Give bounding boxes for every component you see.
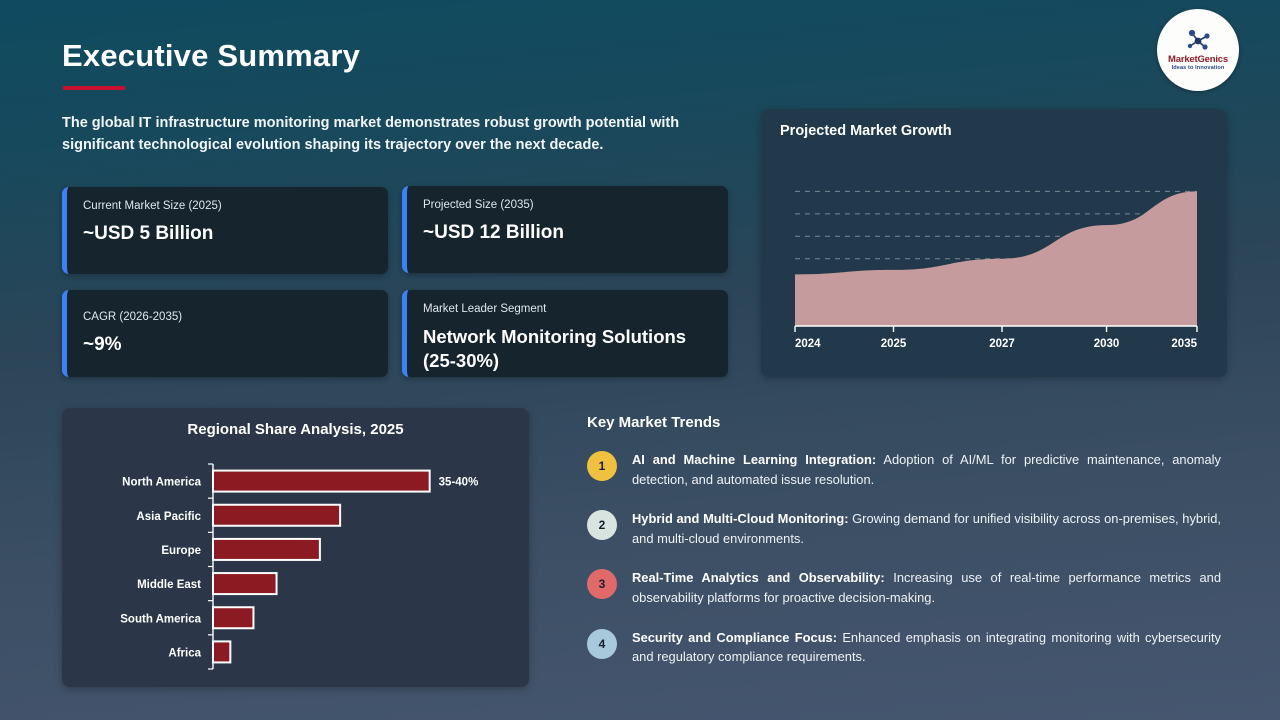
trend-item: 2Hybrid and Multi-Cloud Monitoring: Grow… [587, 509, 1221, 548]
x-axis-tick-label: 2030 [1094, 338, 1120, 350]
stat-card-market-leader-segment: Market Leader Segment Network Monitoring… [402, 290, 728, 377]
trend-heading: Security and Compliance Focus: [632, 630, 837, 645]
trend-number-badge: 4 [587, 629, 617, 659]
trend-heading: AI and Machine Learning Integration: [632, 452, 876, 467]
molecule-network-icon [1183, 28, 1213, 55]
title-accent-rule [63, 86, 125, 90]
chart-title-regional: Regional Share Analysis, 2025 [62, 421, 529, 438]
key-market-trends-list: 1AI and Machine Learning Integration: Ad… [587, 450, 1221, 687]
bar-north-america [213, 471, 430, 492]
area-chart-growth: 20242025202720302035 [791, 161, 1199, 356]
bar-europe [213, 539, 320, 560]
regional-share-analysis-panel: Regional Share Analysis, 2025 North Amer… [62, 408, 529, 687]
bar-category-label: South America [120, 613, 201, 625]
x-axis-tick-label: 2025 [881, 338, 907, 350]
stat-label: CAGR (2026-2035) [83, 310, 372, 325]
logo-tagline: Ideas to Innovation [1172, 66, 1225, 72]
x-axis-tick-label: 2035 [1171, 338, 1197, 350]
bar-south-america [213, 607, 253, 628]
stat-value: ~9% [83, 333, 372, 357]
trend-item: 1AI and Machine Learning Integration: Ad… [587, 450, 1221, 489]
logo-name: MarketGenics [1168, 55, 1228, 65]
trend-text: AI and Machine Learning Integration: Ado… [632, 450, 1221, 489]
trend-text: Security and Compliance Focus: Enhanced … [632, 628, 1221, 667]
page-title: Executive Summary [62, 38, 360, 74]
x-axis-tick-label: 2024 [795, 338, 821, 350]
intro-paragraph: The global IT infrastructure monitoring … [62, 112, 734, 157]
stat-value: ~USD 12 Billion [423, 221, 712, 245]
stat-label: Current Market Size (2025) [83, 199, 372, 214]
bar-category-label: North America [122, 477, 201, 489]
key-market-trends-title: Key Market Trends [587, 414, 720, 431]
trend-text: Hybrid and Multi-Cloud Monitoring: Growi… [632, 509, 1221, 548]
stat-value: ~USD 5 Billion [83, 222, 372, 246]
chart-title-growth: Projected Market Growth [780, 123, 952, 139]
x-axis-tick-label: 2027 [989, 338, 1015, 350]
bar-middle-east [213, 573, 277, 594]
stat-card-current-market-size: Current Market Size (2025) ~USD 5 Billio… [62, 187, 388, 274]
stat-label: Market Leader Segment [423, 302, 712, 317]
bar-africa [213, 641, 230, 662]
trend-number-badge: 2 [587, 510, 617, 540]
trend-number-badge: 3 [587, 569, 617, 599]
projected-market-growth-panel: Projected Market Growth 2024202520272030… [761, 109, 1227, 377]
stat-label: Projected Size (2035) [423, 198, 712, 213]
bar-category-label: Asia Pacific [136, 511, 201, 523]
bar-value-annotation: 35-40% [439, 477, 479, 489]
bar-category-label: Europe [161, 545, 201, 557]
bar-category-label: Africa [168, 647, 201, 659]
trend-heading: Real-Time Analytics and Observability: [632, 570, 885, 585]
bar-asia-pacific [213, 505, 340, 526]
brand-logo: MarketGenics Ideas to Innovation [1157, 9, 1239, 91]
trend-item: 3Real-Time Analytics and Observability: … [587, 568, 1221, 607]
trend-item: 4Security and Compliance Focus: Enhanced… [587, 628, 1221, 667]
trend-text: Real-Time Analytics and Observability: I… [632, 568, 1221, 607]
trend-heading: Hybrid and Multi-Cloud Monitoring: [632, 511, 848, 526]
stat-card-cagr: CAGR (2026-2035) ~9% [62, 290, 388, 377]
bar-category-label: Middle East [137, 579, 201, 591]
slide-canvas: Executive Summary The global IT infrastr… [0, 0, 1280, 720]
trend-number-badge: 1 [587, 451, 617, 481]
stat-value: Network Monitoring Solutions (25-30%) [423, 325, 712, 372]
stat-card-projected-size: Projected Size (2035) ~USD 12 Billion [402, 186, 728, 273]
bar-chart-regional-share: North America35-40%Asia PacificEuropeMid… [62, 456, 529, 681]
